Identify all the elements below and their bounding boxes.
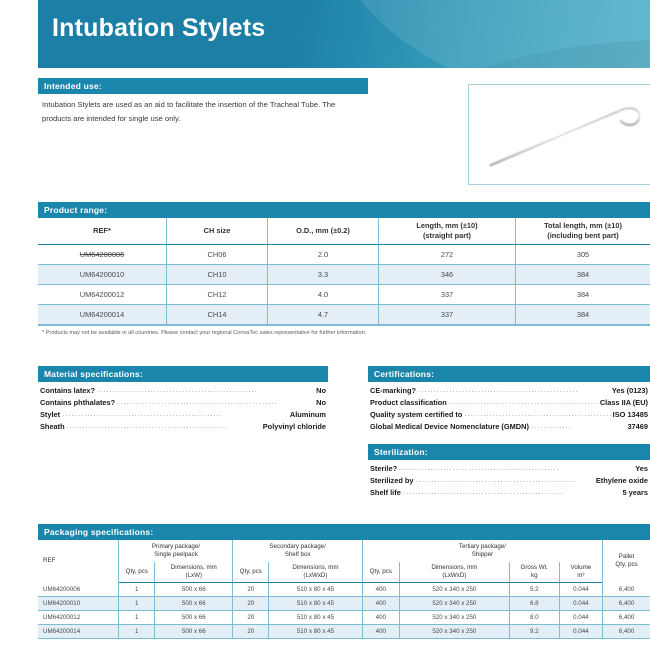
intended-use-heading: Intended use: — [38, 78, 368, 94]
col-header-secondary-dim: Dimensions, mm (LxWxD) — [269, 562, 363, 583]
spec-row: Sheath .................................… — [40, 421, 326, 433]
col-header-tertiary-qty: Qty, pcs — [362, 562, 399, 583]
cell-tertiary-dim: 520 x 340 x 250 — [399, 625, 509, 639]
cell-secondary-qty: 20 — [233, 597, 269, 611]
col-header-total-length: Total length, mm (±10) (including bent p… — [516, 218, 650, 245]
dot-leader: ........................................… — [449, 396, 598, 408]
cell-gross-weight: 6.8 — [509, 597, 559, 611]
col-header-primary-dim: Dimensions, mm (LxW) — [155, 562, 233, 583]
cell-length: 272 — [379, 245, 516, 265]
dot-leader: ........................................… — [418, 384, 610, 396]
cell-pallet-qty: 6,400 — [603, 583, 650, 597]
table-row: UM64200006 1 500 x 66 20 510 x 80 x 45 4… — [38, 583, 650, 597]
col-header-primary-qty: Qty, pcs — [119, 562, 155, 583]
col-header-ch-size: CH size — [167, 218, 268, 245]
cell-ref: UM64200006 — [38, 583, 119, 597]
col-header-tertiary-package: Tertiary package/ Shipper — [362, 540, 602, 562]
col-header-tertiary-dim: Dimensions, mm (LxWxD) — [399, 562, 509, 583]
product-range-header-row: REF* CH size O.D., mm (±0.2) Length, mm … — [38, 218, 650, 245]
cell-total: 384 — [516, 285, 650, 305]
table-row: UM64200010 CH10 3.3 346 384 — [38, 265, 650, 285]
cell-ref: UM64200010 — [38, 597, 119, 611]
product-photo — [468, 84, 650, 185]
cell-ch: CH10 — [167, 265, 268, 285]
cell-od: 2.0 — [268, 245, 379, 265]
banner-divider — [38, 68, 650, 73]
cell-secondary-dim: 510 x 80 x 45 — [269, 625, 363, 639]
table-row: UM64200010 1 500 x 66 20 510 x 80 x 45 4… — [38, 597, 650, 611]
packaging-group-header-row: REF Primary package/ Single peelpack Sec… — [38, 540, 650, 562]
dot-leader: ........................................… — [399, 462, 633, 474]
spec-row: Global Medical Device Nomenclature (GMDN… — [370, 421, 648, 433]
col-header-od: O.D., mm (±0.2) — [268, 218, 379, 245]
cell-pallet-qty: 6,400 — [603, 611, 650, 625]
product-datasheet-page: Intubation Stylets Intended use: Intubat… — [0, 0, 650, 650]
cell-ref: UM64200012 — [38, 611, 119, 625]
cell-gross-weight: 8.0 — [509, 611, 559, 625]
table-row: UM64200014 CH14 4.7 337 384 — [38, 305, 650, 325]
cell-tertiary-dim: 520 x 340 x 250 — [399, 611, 509, 625]
dot-leader: ........................................… — [416, 474, 594, 486]
cell-volume: 0.044 — [559, 583, 602, 597]
cell-primary-qty: 1 — [119, 625, 155, 639]
cell-length: 346 — [379, 265, 516, 285]
cell-primary-qty: 1 — [119, 611, 155, 625]
cell-volume: 0.044 — [559, 597, 602, 611]
spec-row: Shelf life .............................… — [370, 487, 648, 499]
title-banner: Intubation Stylets — [38, 0, 650, 68]
material-specifications-heading: Material specifications: — [38, 366, 328, 382]
cell-secondary-dim: 510 x 80 x 45 — [269, 583, 363, 597]
cell-tertiary-dim: 520 x 340 x 250 — [399, 583, 509, 597]
cell-primary-dim: 500 x 66 — [155, 597, 233, 611]
cell-ref: UM64200012 — [38, 285, 167, 305]
material-specifications-section: Material specifications: Contains latex?… — [38, 366, 328, 433]
cell-secondary-dim: 510 x 80 x 45 — [269, 611, 363, 625]
page-title: Intubation Stylets — [52, 14, 265, 43]
cell-gross-weight: 5.2 — [509, 583, 559, 597]
product-range-heading: Product range: — [38, 202, 650, 218]
cell-tertiary-qty: 400 — [362, 583, 399, 597]
cell-total: 384 — [516, 305, 650, 325]
sterilization-list: Sterile? ...............................… — [368, 460, 650, 499]
packaging-table: REF Primary package/ Single peelpack Sec… — [38, 540, 650, 639]
cell-pallet-qty: 6,400 — [603, 625, 650, 639]
cell-primary-dim: 500 x 66 — [155, 625, 233, 639]
cell-tertiary-qty: 400 — [362, 597, 399, 611]
cell-pallet-qty: 6,400 — [603, 597, 650, 611]
cell-od: 4.7 — [268, 305, 379, 325]
cell-tertiary-qty: 400 — [362, 611, 399, 625]
stylet-illustration — [469, 85, 650, 184]
table-row: UM64200012 CH12 4.0 337 384 — [38, 285, 650, 305]
cell-primary-qty: 1 — [119, 597, 155, 611]
packaging-sub-header-row: Qty, pcs Dimensions, mm (LxW) Qty, pcs D… — [38, 562, 650, 583]
table-row: UM64200014 1 500 x 66 20 510 x 80 x 45 4… — [38, 625, 650, 639]
cell-ch: CH14 — [167, 305, 268, 325]
col-header-ref: REF — [38, 540, 119, 583]
col-header-secondary-qty: Qty, pcs — [233, 562, 269, 583]
dot-leader: ........................................… — [62, 408, 288, 420]
product-range-table: REF* CH size O.D., mm (±0.2) Length, mm … — [38, 218, 650, 325]
table-row: UM64200012 1 500 x 66 20 510 x 80 x 45 4… — [38, 611, 650, 625]
cell-ref: UM64200014 — [38, 625, 119, 639]
col-header-ref: REF* — [38, 218, 167, 245]
product-range-section: Product range: REF* CH size O.D., mm (±0… — [38, 202, 650, 336]
cell-ch: CH12 — [167, 285, 268, 305]
dot-leader: ........................................… — [464, 408, 610, 420]
cell-total: 384 — [516, 265, 650, 285]
col-header-gross-weight: Gross Wt. kg — [509, 562, 559, 583]
dot-leader: ............. — [531, 420, 626, 432]
cell-ch: CH06 — [167, 245, 268, 265]
cell-primary-qty: 1 — [119, 583, 155, 597]
certifications-heading: Certifications: — [368, 366, 650, 382]
packaging-specifications-section: Packaging specifications: REF Primary pa… — [38, 524, 650, 639]
cell-volume: 0.044 — [559, 625, 602, 639]
cell-primary-dim: 500 x 66 — [155, 583, 233, 597]
cell-volume: 0.044 — [559, 611, 602, 625]
col-header-length: Length, mm (±10) (straight part) — [379, 218, 516, 245]
cell-secondary-qty: 20 — [233, 583, 269, 597]
cell-secondary-qty: 20 — [233, 611, 269, 625]
material-specifications-list: Contains latex? ........................… — [38, 382, 328, 433]
cell-total: 305 — [516, 245, 650, 265]
cell-tertiary-qty: 400 — [362, 625, 399, 639]
cell-secondary-dim: 510 x 80 x 45 — [269, 597, 363, 611]
cell-ref: UM64200010 — [38, 265, 167, 285]
cell-secondary-qty: 20 — [233, 625, 269, 639]
col-header-primary-package: Primary package/ Single peelpack — [119, 540, 233, 562]
packaging-heading: Packaging specifications: — [38, 524, 650, 540]
cell-length: 337 — [379, 305, 516, 325]
col-header-volume: Volume m³ — [559, 562, 602, 583]
col-header-pallet: Pallet Qty, pcs — [603, 540, 650, 583]
intended-use-body: Intubation Stylets are used as an aid to… — [38, 94, 368, 126]
page-content: Intubation Stylets Intended use: Intubat… — [38, 0, 650, 73]
dot-leader: ........................................… — [97, 384, 314, 396]
intended-use-section: Intended use: Intubation Stylets are use… — [38, 78, 368, 126]
sterilization-section: Sterilization: Sterile? ................… — [368, 444, 650, 499]
sterilization-heading: Sterilization: — [368, 444, 650, 460]
cell-primary-dim: 500 x 66 — [155, 611, 233, 625]
cell-gross-weight: 9.2 — [509, 625, 559, 639]
cell-ref: UM64200014 — [38, 305, 167, 325]
cell-od: 4.0 — [268, 285, 379, 305]
table-row: UM64200006 CH06 2.0 272 305 — [38, 245, 650, 265]
cell-length: 337 — [379, 285, 516, 305]
col-header-secondary-package: Secondary package/ Shelf box — [233, 540, 362, 562]
certifications-section: Certifications: CE-marking? ............… — [368, 366, 650, 433]
cell-od: 3.3 — [268, 265, 379, 285]
dot-leader: ........................................… — [117, 396, 314, 408]
product-range-footnote: * Products may not be available in all c… — [38, 325, 650, 336]
cell-ref: UM64200006 — [38, 245, 167, 265]
cell-tertiary-dim: 520 x 340 x 250 — [399, 597, 509, 611]
dot-leader: ........................................… — [403, 486, 621, 498]
certifications-list: CE-marking? ............................… — [368, 382, 650, 433]
dot-leader: ........................................… — [67, 420, 261, 432]
